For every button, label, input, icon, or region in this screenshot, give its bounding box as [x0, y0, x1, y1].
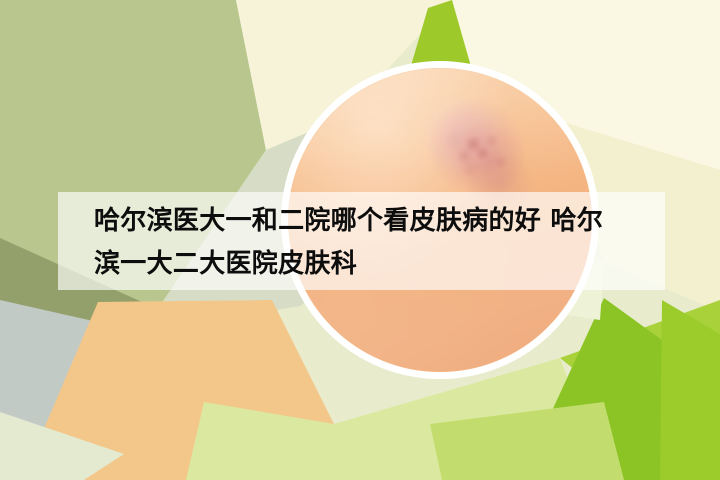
page-title: 哈尔滨医大一和二院哪个看皮肤病的好 哈尔 滨一大二大医院皮肤科	[94, 200, 654, 286]
title-line-2: 滨一大二大医院皮肤科	[94, 243, 654, 286]
image-canvas: 哈尔滨医大一和二院哪个看皮肤病的好 哈尔 滨一大二大医院皮肤科	[0, 0, 720, 480]
text-layer: 哈尔滨医大一和二院哪个看皮肤病的好 哈尔 滨一大二大医院皮肤科	[0, 0, 720, 480]
title-line-1: 哈尔滨医大一和二院哪个看皮肤病的好 哈尔	[94, 200, 654, 243]
